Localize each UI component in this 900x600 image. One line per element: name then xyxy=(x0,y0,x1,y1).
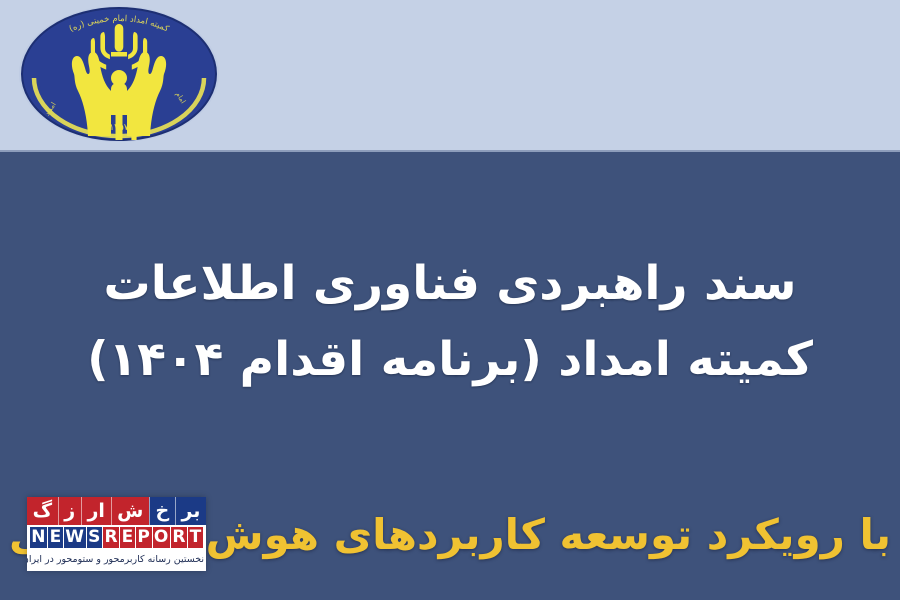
emblem-year: ۱۳۵۷ xyxy=(109,123,129,133)
watermark-latin-4: R xyxy=(103,527,120,548)
watermark-cell-1: خ xyxy=(149,497,175,525)
newsreport-watermark-logo: بر خ ش ار ز گ N E W S R E P O R T نخستین… xyxy=(27,497,206,571)
watermark-latin-2: W xyxy=(64,527,87,548)
watermark-latin-8: R xyxy=(171,527,188,548)
watermark-cell-4: ز xyxy=(58,497,81,525)
watermark-latin-6: P xyxy=(136,527,153,548)
headline-line-1: سند راهبردی فناوری اطلاعات xyxy=(0,246,900,322)
watermark-persian-row: بر خ ش ار ز گ xyxy=(27,497,206,525)
watermark-cell-5: گ xyxy=(27,497,58,525)
headline-line-2: کمیته امداد (برنامه اقدام ۱۴۰۴) xyxy=(0,322,900,398)
watermark-latin-7: O xyxy=(153,527,172,548)
news-graphic-canvas: کمیته امداد امام خمینی (ره) xyxy=(0,0,900,600)
watermark-latin-5: E xyxy=(120,527,136,548)
watermark-latin-0: N xyxy=(30,527,48,548)
watermark-latin-row: N E W S R E P O R T xyxy=(27,525,206,550)
relief-committee-emblem-logo: کمیته امداد امام خمینی (ره) xyxy=(12,4,226,144)
watermark-cell-3: ار xyxy=(81,497,111,525)
watermark-cell-2: ش xyxy=(111,497,149,525)
headline-block: سند راهبردی فناوری اطلاعات کمیته امداد (… xyxy=(0,246,900,398)
watermark-tagline: نخستین رسانه کاربرمحور و ستومحور در ایرا… xyxy=(27,550,206,571)
watermark-latin-1: E xyxy=(48,527,64,548)
watermark-cell-0: بر xyxy=(175,497,206,525)
watermark-latin-9: T xyxy=(188,527,203,548)
watermark-latin-3: S xyxy=(87,527,103,548)
